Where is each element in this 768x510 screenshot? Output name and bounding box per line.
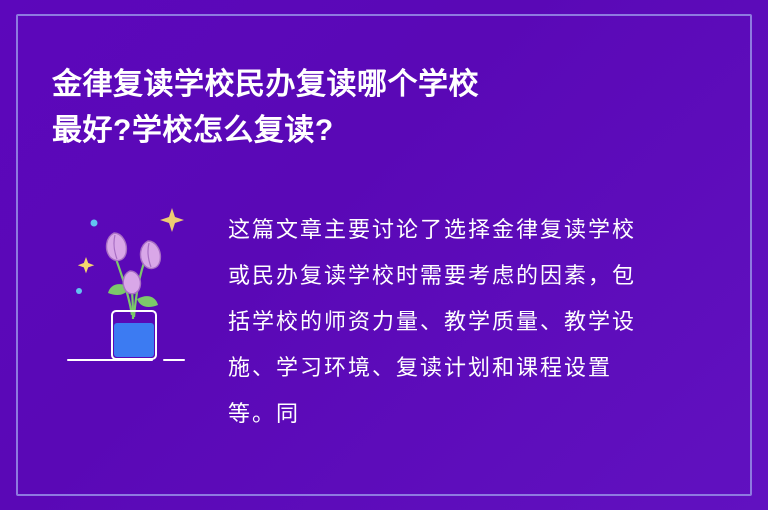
flower-blooms bbox=[107, 233, 161, 294]
article-card: 金律复读学校民办复读哪个学校 最好?学校怎么复读? bbox=[0, 0, 768, 510]
flower-vase-illustration bbox=[60, 195, 210, 375]
article-body: 这篇文章主要讨论了选择金律复读学校或民办复读学校时需要考虑的因素，包括学校的师资… bbox=[228, 208, 648, 438]
page-title: 金律复读学校民办复读哪个学校 最好?学校怎么复读? bbox=[52, 62, 662, 154]
